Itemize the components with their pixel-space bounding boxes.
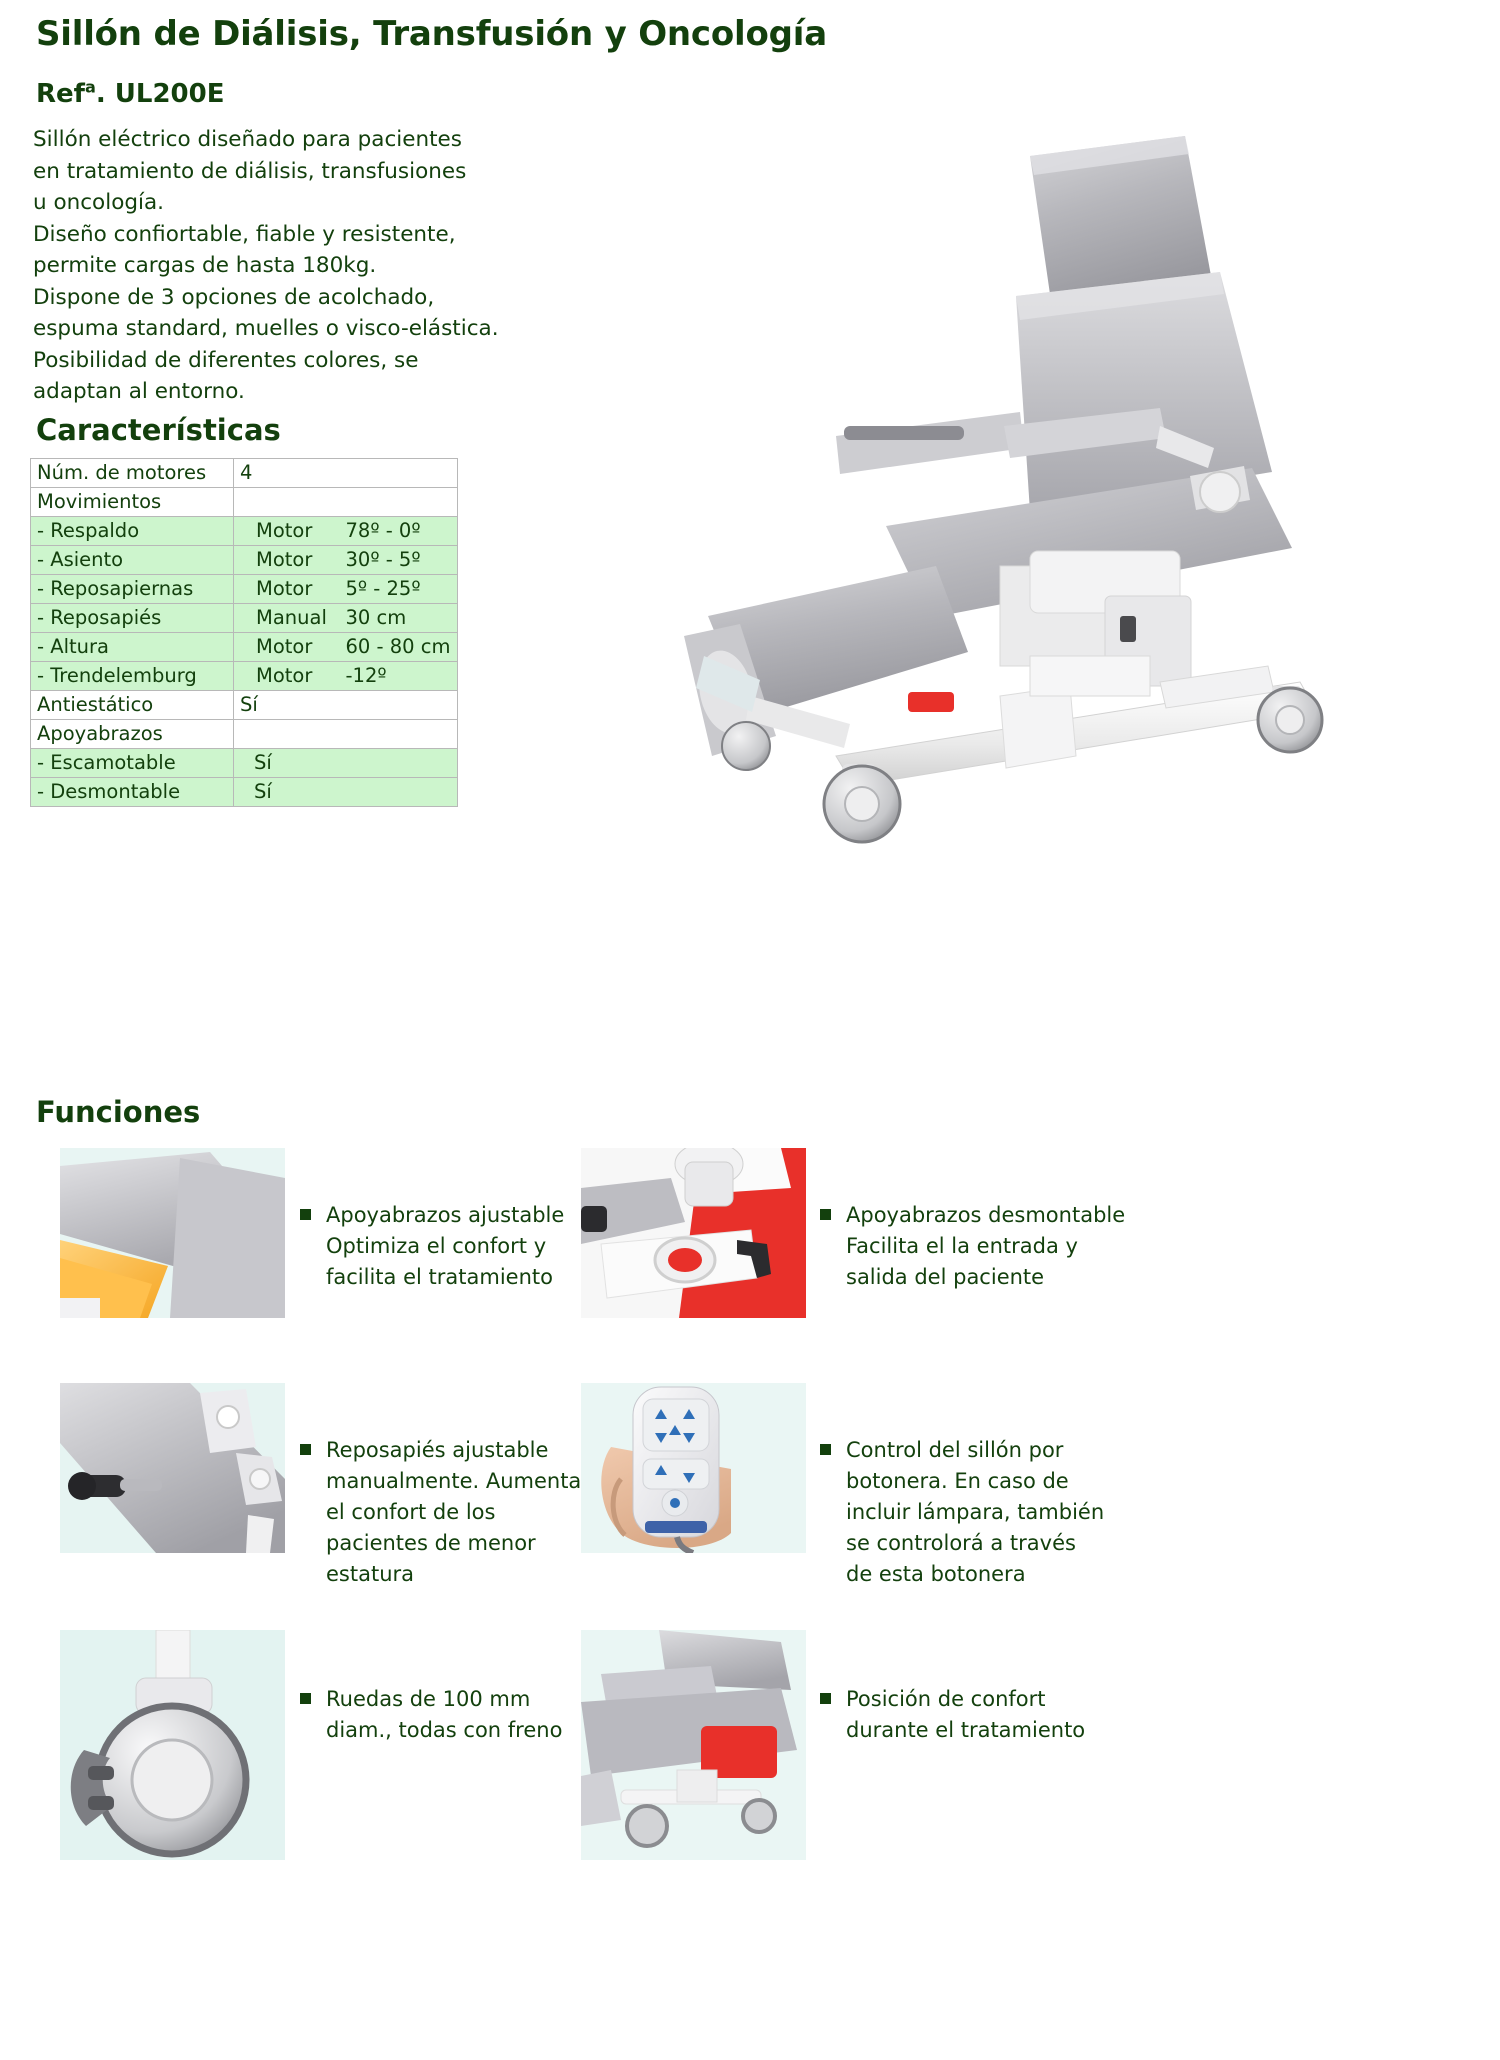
function-text-line: Reposapiés ajustable [326, 1435, 580, 1466]
function-text: Reposapiés ajustablemanualmente. Aumenta… [326, 1435, 580, 1590]
spec-value: 5º - 25º [346, 575, 458, 604]
description-line: u oncología. [33, 187, 463, 219]
function-item-ruedas: Ruedas de 100 mmdiam., todas con freno [300, 1684, 560, 1746]
spec-drive-type: Motor [234, 662, 346, 691]
spec-value: -12º [346, 662, 458, 691]
function-text-line: se controlorá a través [846, 1528, 1120, 1559]
spec-drive-type: Motor [234, 517, 346, 546]
function-item-posicion-confort: Posición de confortdurante el tratamient… [820, 1684, 1100, 1746]
table-row: - EscamotableSí [31, 749, 458, 778]
function-text-line: pacientes de menor [326, 1528, 580, 1559]
function-text: Apoyabrazos desmontableFacilita el la en… [846, 1200, 1110, 1293]
table-row: Núm. de motores4 [31, 459, 458, 488]
function-text: Apoyabrazos ajustableOptimiza el confort… [326, 1200, 570, 1293]
function-text: Posición de confortdurante el tratamient… [846, 1684, 1100, 1746]
spec-label: - Desmontable [31, 778, 234, 807]
spec-value [234, 488, 458, 517]
function-text-line: Facilita el la entrada y [846, 1231, 1110, 1262]
table-row: - ReposapiernasMotor5º - 25º [31, 575, 458, 604]
reference-suffix: . UL200E [96, 79, 225, 109]
product-reference: Refa. UL200E [36, 79, 225, 109]
caster-wheel-photo [60, 1630, 285, 1860]
function-text-line: Apoyabrazos desmontable [846, 1200, 1110, 1231]
bullet-icon [300, 1693, 311, 1704]
spec-label: Movimientos [31, 488, 234, 517]
function-item-apoyabrazos-desmontable: Apoyabrazos desmontableFacilita el la en… [820, 1200, 1110, 1293]
spec-value: 4 [234, 459, 458, 488]
section-heading-caracteristicas: Características [36, 413, 281, 447]
armrest-detachable-photo [581, 1148, 806, 1318]
function-item-apoyabrazos-ajustable: Apoyabrazos ajustableOptimiza el confort… [300, 1200, 570, 1293]
spec-value: Sí [234, 778, 458, 807]
table-row: Apoyabrazos [31, 720, 458, 749]
description-line: permite cargas de hasta 180kg. [33, 250, 463, 282]
bullet-icon [820, 1444, 831, 1455]
bullet-icon [820, 1693, 831, 1704]
function-text-line: de esta botonera [846, 1559, 1120, 1590]
function-item-reposapies-ajustable: Reposapiés ajustablemanualmente. Aumenta… [300, 1435, 580, 1590]
spec-value: 78º - 0º [346, 517, 458, 546]
function-text-line: botonera. En caso de [846, 1466, 1120, 1497]
spec-value: 30 cm [346, 604, 458, 633]
description-line: Diseño confiortable, fiable y resistente… [33, 219, 463, 251]
function-text-line: Apoyabrazos ajustable [326, 1200, 570, 1231]
table-row: - AsientoMotor30º - 5º [31, 546, 458, 575]
spec-drive-type: Motor [234, 633, 346, 662]
table-row: - TrendelemburgMotor-12º [31, 662, 458, 691]
spec-label: - Reposapiernas [31, 575, 234, 604]
page-title: Sillón de Diálisis, Transfusión y Oncolo… [36, 14, 827, 54]
function-text-line: Control del sillón por [846, 1435, 1120, 1466]
reference-prefix: Ref [36, 79, 85, 109]
spec-label: Apoyabrazos [31, 720, 234, 749]
bullet-icon [820, 1209, 831, 1220]
function-text-line: Posición de confort [846, 1684, 1100, 1715]
description-line: espuma standard, muelles o visco-elástic… [33, 313, 463, 345]
function-text-line: el confort de los [326, 1497, 580, 1528]
spec-label: - Escamotable [31, 749, 234, 778]
description-line: Posibilidad de diferentes colores, se [33, 345, 463, 377]
table-row: - ReposapiésManual30 cm [31, 604, 458, 633]
spec-label: - Trendelemburg [31, 662, 234, 691]
armrest-closeup-photo [60, 1148, 285, 1318]
product-description: Sillón eléctrico diseñado para pacientes… [33, 124, 463, 408]
table-row: AntiestáticoSí [31, 691, 458, 720]
function-text-line: manualmente. Aumenta [326, 1466, 580, 1497]
comfort-position-photo [581, 1630, 806, 1860]
footrest-joint-photo [60, 1383, 285, 1553]
spec-value: Sí [234, 691, 458, 720]
bullet-icon [300, 1209, 311, 1220]
function-text-line: diam., todas con freno [326, 1715, 560, 1746]
table-row: - AlturaMotor60 - 80 cm [31, 633, 458, 662]
function-text-line: Ruedas de 100 mm [326, 1684, 560, 1715]
spec-value [234, 720, 458, 749]
spec-label: Antiestático [31, 691, 234, 720]
function-text-line: Optimiza el confort y [326, 1231, 570, 1262]
table-row: Movimientos [31, 488, 458, 517]
section-heading-funciones: Funciones [36, 1095, 200, 1129]
spec-drive-type: Motor [234, 546, 346, 575]
reference-superscript: a [85, 77, 96, 96]
spec-label: - Altura [31, 633, 234, 662]
dialysis-chair-main-photo [600, 96, 1480, 966]
function-text: Control del sillón porbotonera. En caso … [846, 1435, 1120, 1590]
function-text-line: facilita el tratamiento [326, 1262, 570, 1293]
spec-label: Núm. de motores [31, 459, 234, 488]
description-line: Dispone de 3 opciones de acolchado, [33, 282, 463, 314]
description-line: adaptan al entorno. [33, 376, 463, 408]
spec-value: Sí [234, 749, 458, 778]
spec-label: - Reposapiés [31, 604, 234, 633]
function-text-line: estatura [326, 1559, 580, 1590]
spec-drive-type: Motor [234, 575, 346, 604]
table-row: - RespaldoMotor78º - 0º [31, 517, 458, 546]
spec-value: 30º - 5º [346, 546, 458, 575]
handset-remote-photo [581, 1383, 806, 1553]
spec-label: - Asiento [31, 546, 234, 575]
table-row: - DesmontableSí [31, 778, 458, 807]
function-text-line: salida del paciente [846, 1262, 1110, 1293]
function-text-line: durante el tratamiento [846, 1715, 1100, 1746]
specifications-table: Núm. de motores4Movimientos- RespaldoMot… [30, 458, 458, 807]
description-line: en tratamiento de diálisis, transfusione… [33, 156, 463, 188]
bullet-icon [300, 1444, 311, 1455]
datasheet-page: Sillón de Diálisis, Transfusión y Oncolo… [0, 0, 1500, 2060]
spec-value: 60 - 80 cm [346, 633, 458, 662]
spec-drive-type: Manual [234, 604, 346, 633]
function-text: Ruedas de 100 mmdiam., todas con freno [326, 1684, 560, 1746]
spec-label: - Respaldo [31, 517, 234, 546]
description-line: Sillón eléctrico diseñado para pacientes [33, 124, 463, 156]
function-text-line: incluir lámpara, también [846, 1497, 1120, 1528]
function-item-control-botonera: Control del sillón porbotonera. En caso … [820, 1435, 1120, 1590]
